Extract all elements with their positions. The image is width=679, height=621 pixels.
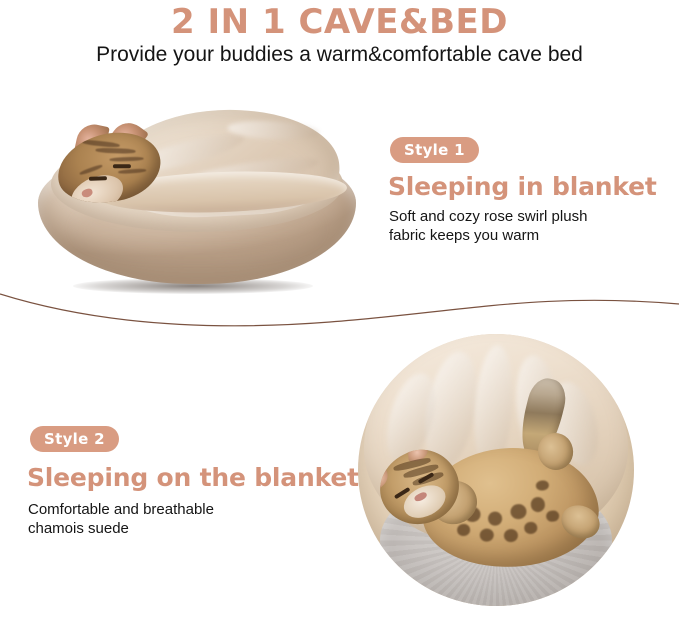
style-1-heading: Sleeping in blanket	[388, 172, 657, 201]
cat-spot	[487, 510, 503, 526]
cat-on-blanket	[380, 426, 612, 578]
round-bed-photo	[358, 334, 634, 606]
cat-spot	[530, 496, 546, 512]
cat-spot	[546, 509, 560, 522]
section-divider	[0, 282, 679, 338]
cat-spot	[524, 521, 538, 534]
cat-spot	[510, 503, 527, 520]
style-2-badge: Style 2	[30, 426, 119, 452]
page-title: 2 IN 1 CAVE&BED	[0, 2, 679, 42]
cave-bed-photo	[33, 96, 363, 296]
cat-stripe	[79, 164, 103, 176]
cat-stripe	[118, 168, 146, 174]
cat-stripe	[109, 157, 143, 162]
style-2-description-line-1: Comfortable and breathable	[28, 500, 288, 519]
style-1-description: Soft and cozy rose swirl plush fabric ke…	[389, 207, 639, 245]
cat-spot	[479, 528, 494, 542]
cat-muzzle	[66, 168, 129, 212]
cat-stripe	[95, 148, 135, 154]
product-infographic: 2 IN 1 CAVE&BED Provide your buddies a w…	[0, 0, 679, 621]
cat-spot	[535, 479, 548, 491]
style-1-description-line-1: Soft and cozy rose swirl plush	[389, 207, 639, 226]
cat-eye	[113, 164, 131, 168]
divider-curve	[0, 294, 679, 326]
cat-stripe	[82, 139, 120, 148]
cat-eye	[89, 176, 107, 181]
cat-spot	[457, 523, 471, 536]
style-2-description: Comfortable and breathable chamois suede	[28, 500, 288, 538]
style-1-description-line-2: fabric keeps you warm	[389, 226, 639, 245]
round-bed	[358, 334, 634, 606]
cat-in-bed	[51, 124, 177, 208]
page-subtitle: Provide your buddies a warm&comfortable …	[0, 43, 679, 67]
cat-spot	[503, 528, 518, 542]
style-2-heading: Sleeping on the blanket	[27, 463, 359, 492]
style-2-description-line-2: chamois suede	[28, 519, 288, 538]
cat-head	[51, 124, 167, 212]
style-1-badge: Style 1	[390, 137, 479, 163]
